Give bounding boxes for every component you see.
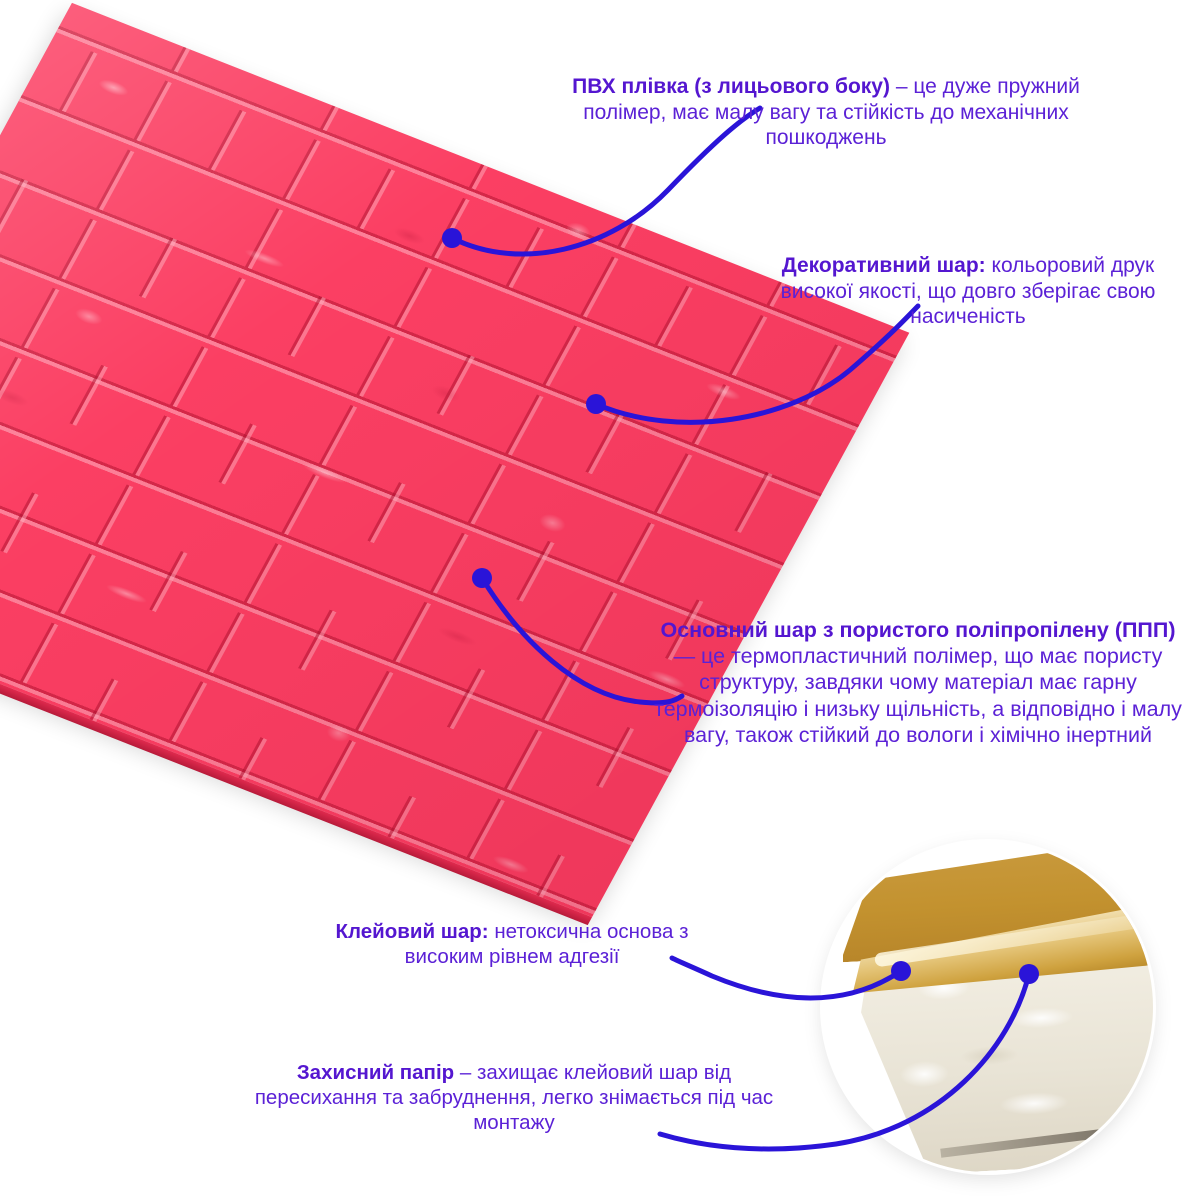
callout-pvc-film: ПВХ плівка (з лицьового боку) – це дуже … xyxy=(566,74,1086,151)
callout-title-decorative-layer: Декоративний шар: xyxy=(782,254,986,277)
callout-adhesive-layer: Клейовий шар: нетоксична основа з високи… xyxy=(300,919,724,969)
callout-decorative-layer: Декоративний шар: кольоровий друк високо… xyxy=(768,253,1168,330)
callout-base-layer: Основний шар з пористого поліпропілену (… xyxy=(648,617,1188,748)
callout-protective-paper: Захисний папір – захищає клейовий шар ві… xyxy=(252,1060,776,1135)
callout-title-protective-paper: Захисний папір xyxy=(297,1061,454,1084)
callout-sep-base-layer: — xyxy=(674,644,701,668)
infographic-canvas: ПВХ плівка (з лицьового боку) – це дуже … xyxy=(0,0,1200,1200)
callout-sep-protective-paper: – xyxy=(454,1061,477,1084)
inset-sheet xyxy=(843,842,1153,1172)
inset-photo xyxy=(843,842,1153,1172)
cross-section-inset xyxy=(823,842,1153,1172)
callout-sep-pvc-film: – xyxy=(890,75,913,98)
callout-title-base-layer: Основний шар з пористого поліпропілену (… xyxy=(661,618,1176,642)
callout-title-adhesive-layer: Клейовий шар: xyxy=(336,920,489,943)
callout-body-base-layer: це термопластичний полімер, що має порис… xyxy=(654,644,1182,747)
callout-title-pvc-film: ПВХ плівка (з лицьового боку) xyxy=(572,75,890,98)
